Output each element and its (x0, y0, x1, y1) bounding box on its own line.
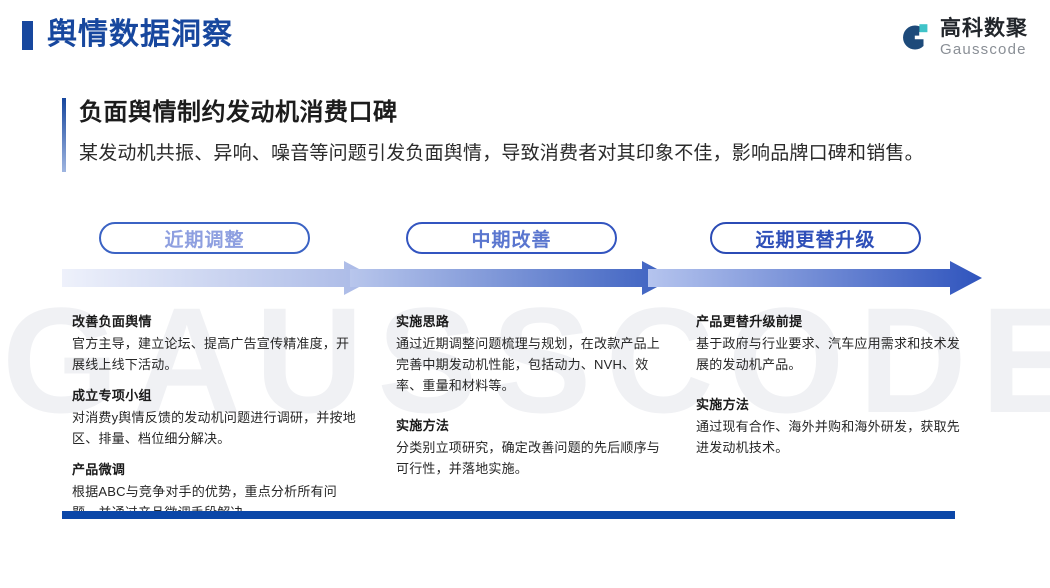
gausscode-logo-icon (898, 21, 931, 54)
detail-block-body: 官方主导，建立论坛、提高广告宣传精准度，开展线上线下活动。 (72, 333, 362, 375)
detail-block-title: 改善负面舆情 (72, 312, 362, 332)
page-title: 舆情数据洞察 (47, 16, 233, 54)
detail-block: 产品更替升级前提 基于政府与行业要求、汽车应用需求和技术发展的发动机产品。 (696, 312, 968, 375)
detail-block: 成立专项小组 对消费y舆情反馈的发动机问题进行调研，并按地区、排量、档位细分解决… (72, 386, 362, 449)
column-long-term: 产品更替升级前提 基于政府与行业要求、汽车应用需求和技术发展的发动机产品。 实施… (696, 312, 968, 458)
detail-block-body: 分类别立项研究，确定改善问题的先后顺序与可行性，并落地实施。 (396, 437, 668, 479)
section-subheading: 某发动机共振、异响、噪音等问题引发负面舆情，导致消费者对其印象不佳，影响品牌口碑… (79, 140, 982, 168)
detail-block-title: 实施思路 (396, 312, 668, 332)
detail-block-title: 产品更替升级前提 (696, 312, 968, 332)
slide-header: 舆情数据洞察 高科数聚 Gausscode (0, 0, 1050, 72)
stage-pill-label: 远期更替升级 (755, 225, 875, 252)
detail-block-body: 通过近期调整问题梳理与规划，在改款产品上完善中期发动机性能，包括动力、NVH、效… (396, 333, 668, 396)
detail-block: 实施方法 通过现有合作、海外并购和海外研发，获取先进发动机技术。 (696, 395, 968, 458)
detail-block-title: 成立专项小组 (72, 386, 362, 406)
logo-wordmark: 高科数聚 Gausscode (940, 18, 1028, 57)
footer-rule (62, 511, 955, 519)
stage-pill-label: 近期调整 (164, 225, 244, 252)
column-mid-term: 实施思路 通过近期调整问题梳理与规划，在改款产品上完善中期发动机性能，包括动力、… (396, 312, 668, 479)
section-heading: 负面舆情制约发动机消费口碑 (79, 96, 982, 130)
title-accent-bar (62, 98, 66, 172)
detail-block-body: 基于政府与行业要求、汽车应用需求和技术发展的发动机产品。 (696, 333, 968, 375)
detail-block-title: 实施方法 (396, 416, 668, 436)
header-accent-bar (22, 21, 33, 50)
timeline-arrow (62, 261, 982, 295)
logo-text-cn: 高科数聚 (940, 18, 1028, 39)
detail-block-title: 实施方法 (696, 395, 968, 415)
brand-logo: 高科数聚 Gausscode (898, 14, 1028, 60)
detail-block-body: 对消费y舆情反馈的发动机问题进行调研，并按地区、排量、档位细分解决。 (72, 407, 362, 449)
stage-pill-near-term[interactable]: 近期调整 (99, 222, 310, 254)
stage-pill-label: 中期改善 (471, 225, 551, 252)
slide-canvas: GAUSSCODE 舆情数据洞察 高科数聚 Gausscode 负面舆情制约发动… (0, 0, 1050, 588)
detail-block: 实施方法 分类别立项研究，确定改善问题的先后顺序与可行性，并落地实施。 (396, 416, 668, 479)
detail-block-body: 通过现有合作、海外并购和海外研发，获取先进发动机技术。 (696, 416, 968, 458)
column-near-term: 改善负面舆情 官方主导，建立论坛、提高广告宣传精准度，开展线上线下活动。 成立专… (72, 312, 362, 523)
detail-block: 实施思路 通过近期调整问题梳理与规划，在改款产品上完善中期发动机性能，包括动力、… (396, 312, 668, 396)
stage-pill-long-term[interactable]: 远期更替升级 (710, 222, 921, 254)
stage-pill-row: 近期调整 中期改善 远期更替升级 (0, 222, 1050, 256)
stage-pill-mid-term[interactable]: 中期改善 (406, 222, 617, 254)
title-block: 负面舆情制约发动机消费口碑 某发动机共振、异响、噪音等问题引发负面舆情，导致消费… (62, 96, 982, 168)
logo-text-en: Gausscode (940, 42, 1028, 57)
detail-block-title: 产品微调 (72, 460, 362, 480)
detail-block: 改善负面舆情 官方主导，建立论坛、提高广告宣传精准度，开展线上线下活动。 (72, 312, 362, 375)
